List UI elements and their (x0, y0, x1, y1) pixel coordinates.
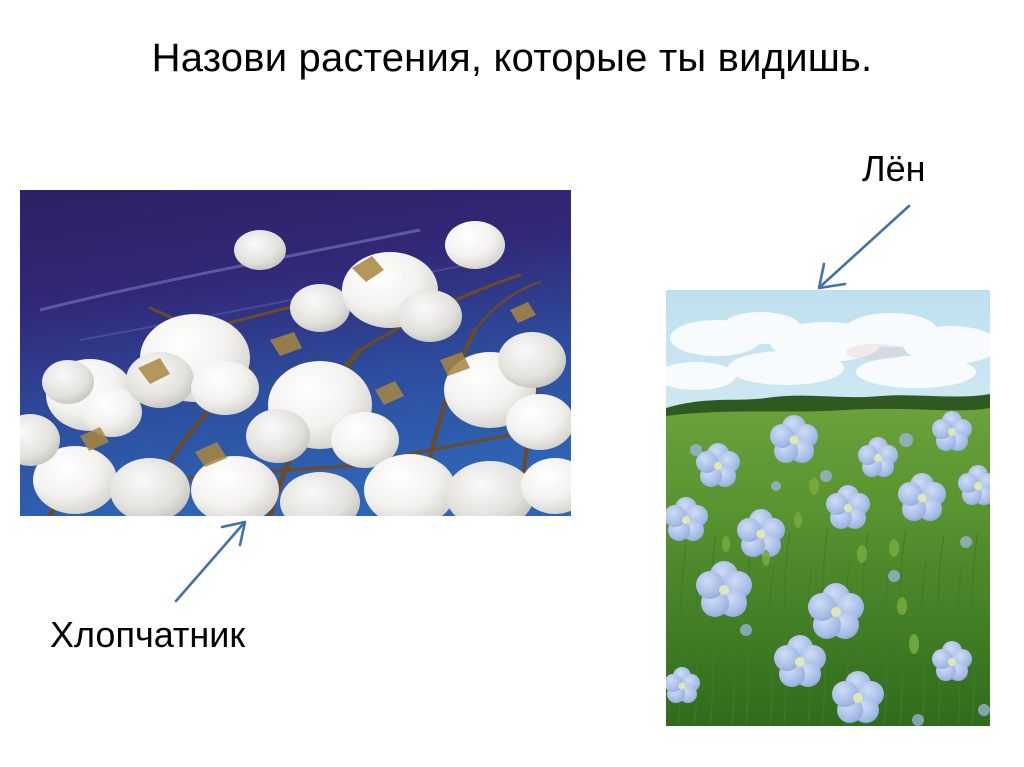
slide-canvas: Назови растения, которые ты видишь. (0, 0, 1024, 767)
cotton-pointer-arrow (160, 505, 270, 615)
cotton-label: Хлопчатник (50, 614, 245, 656)
flax-pointer-arrow (805, 198, 920, 298)
cotton-photo (20, 190, 571, 516)
flax-label: Лён (862, 148, 926, 190)
flax-photo (666, 290, 990, 726)
cotton-photo-illustration (20, 190, 571, 516)
page-title: Назови растения, которые ты видишь. (112, 28, 912, 88)
flax-photo-illustration (666, 290, 990, 726)
